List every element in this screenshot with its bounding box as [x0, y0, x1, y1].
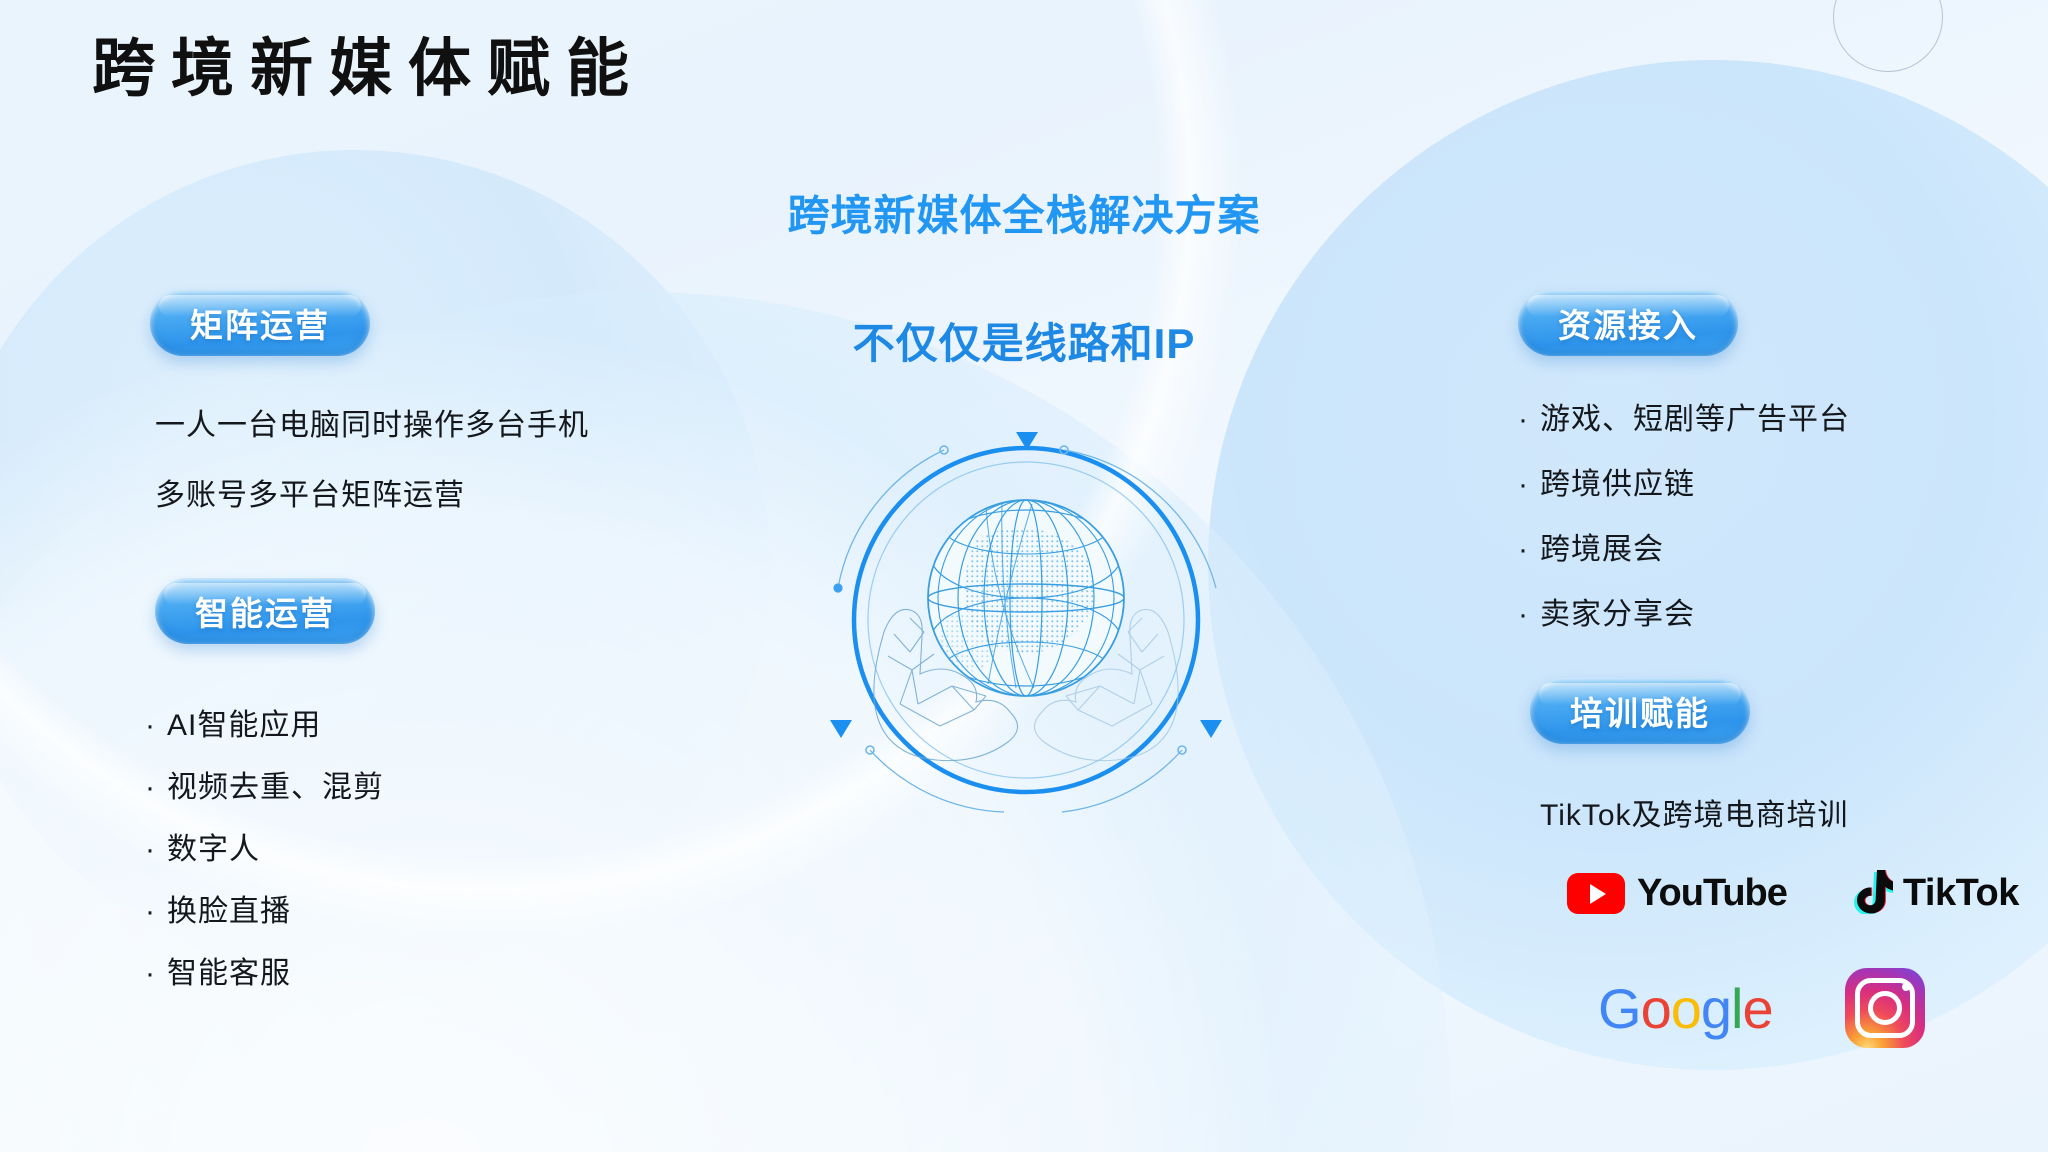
left-bullet-list: ·AI智能应用 ·视频去重、混剪 ·数字人 ·换脸直播 ·智能客服	[145, 695, 384, 1005]
decorative-circle-outline	[1833, 0, 1943, 72]
google-letter-g2: g	[1701, 976, 1731, 1041]
slide-canvas: 跨境新媒体赋能 跨境新媒体全栈解决方案 不仅仅是线路和IP	[0, 0, 2048, 1152]
pill-label: 资源接入	[1558, 299, 1698, 347]
list-item: ·游戏、短剧等广告平台	[1518, 387, 1850, 452]
google-logo[interactable]: Google	[1598, 976, 1773, 1041]
list-item-label: 卖家分享会	[1540, 598, 1695, 631]
list-item-label: 视频去重、混剪	[167, 771, 384, 804]
bullet-dot: ·	[1518, 517, 1540, 582]
list-item-label: AI智能应用	[167, 709, 321, 742]
list-item: ·换脸直播	[145, 881, 384, 943]
logo-row-top: YouTube TikTok	[1567, 868, 2019, 919]
pill-smart-operation[interactable]: 智能运营	[155, 578, 375, 644]
list-item: ·视频去重、混剪	[145, 757, 384, 819]
bullet-dot: ·	[1518, 582, 1540, 647]
instagram-dot-icon	[1902, 983, 1910, 991]
google-letter-o1: o	[1641, 976, 1671, 1041]
bullet-dot: ·	[1518, 452, 1540, 517]
list-item-label: 跨境供应链	[1540, 468, 1695, 501]
right-bullet-list: ·游戏、短剧等广告平台 ·跨境供应链 ·跨境展会 ·卖家分享会	[1518, 387, 1850, 647]
page-title: 跨境新媒体赋能	[92, 38, 645, 101]
youtube-play-icon	[1567, 873, 1625, 914]
google-letter-g1: G	[1598, 976, 1641, 1041]
list-item: ·跨境供应链	[1518, 452, 1850, 517]
bullet-dot: ·	[145, 757, 167, 819]
center-heading-secondary: 不仅仅是线路和IP	[853, 310, 1196, 371]
list-item: ·AI智能应用	[145, 695, 384, 757]
right-text-line-1: TikTok及跨境电商培训	[1540, 790, 1849, 834]
google-letter-l: l	[1731, 976, 1742, 1041]
tiktok-label: TikTok	[1903, 872, 2019, 915]
left-text-line-1: 一人一台电脑同时操作多台手机	[155, 400, 589, 444]
list-item-label: 跨境展会	[1540, 533, 1664, 566]
list-item-label: 换脸直播	[167, 895, 291, 928]
list-item: ·智能客服	[145, 943, 384, 1005]
google-letter-o2: o	[1671, 976, 1701, 1041]
globe-in-hands-illustration	[826, 420, 1226, 820]
list-item: ·数字人	[145, 819, 384, 881]
google-letter-e: e	[1742, 976, 1772, 1041]
instagram-logo[interactable]	[1845, 968, 1925, 1048]
pill-label: 智能运营	[195, 587, 335, 635]
youtube-logo[interactable]: YouTube	[1567, 872, 1787, 915]
bullet-dot: ·	[1518, 387, 1540, 452]
list-item: ·卖家分享会	[1518, 582, 1850, 647]
tiktok-logo[interactable]: TikTok	[1851, 868, 2019, 919]
list-item-label: 游戏、短剧等广告平台	[1540, 403, 1850, 436]
pill-label: 矩阵运营	[190, 299, 330, 347]
bullet-dot: ·	[145, 819, 167, 881]
pill-matrix-operation[interactable]: 矩阵运营	[150, 290, 370, 356]
bullet-dot: ·	[145, 695, 167, 757]
youtube-label: YouTube	[1637, 872, 1787, 915]
pill-training-empowerment[interactable]: 培训赋能	[1530, 678, 1750, 744]
bullet-dot: ·	[145, 881, 167, 943]
bullet-dot: ·	[145, 943, 167, 1005]
logo-row-bottom: Google	[1598, 968, 1925, 1048]
tiktok-note-icon	[1851, 868, 1893, 919]
list-item-label: 数字人	[167, 833, 260, 866]
left-text-line-2: 多账号多平台矩阵运营	[155, 470, 465, 514]
pill-resource-access[interactable]: 资源接入	[1518, 290, 1738, 356]
center-heading-primary: 跨境新媒体全栈解决方案	[787, 182, 1260, 243]
pill-label: 培训赋能	[1570, 687, 1710, 735]
list-item: ·跨境展会	[1518, 517, 1850, 582]
list-item-label: 智能客服	[167, 957, 291, 990]
